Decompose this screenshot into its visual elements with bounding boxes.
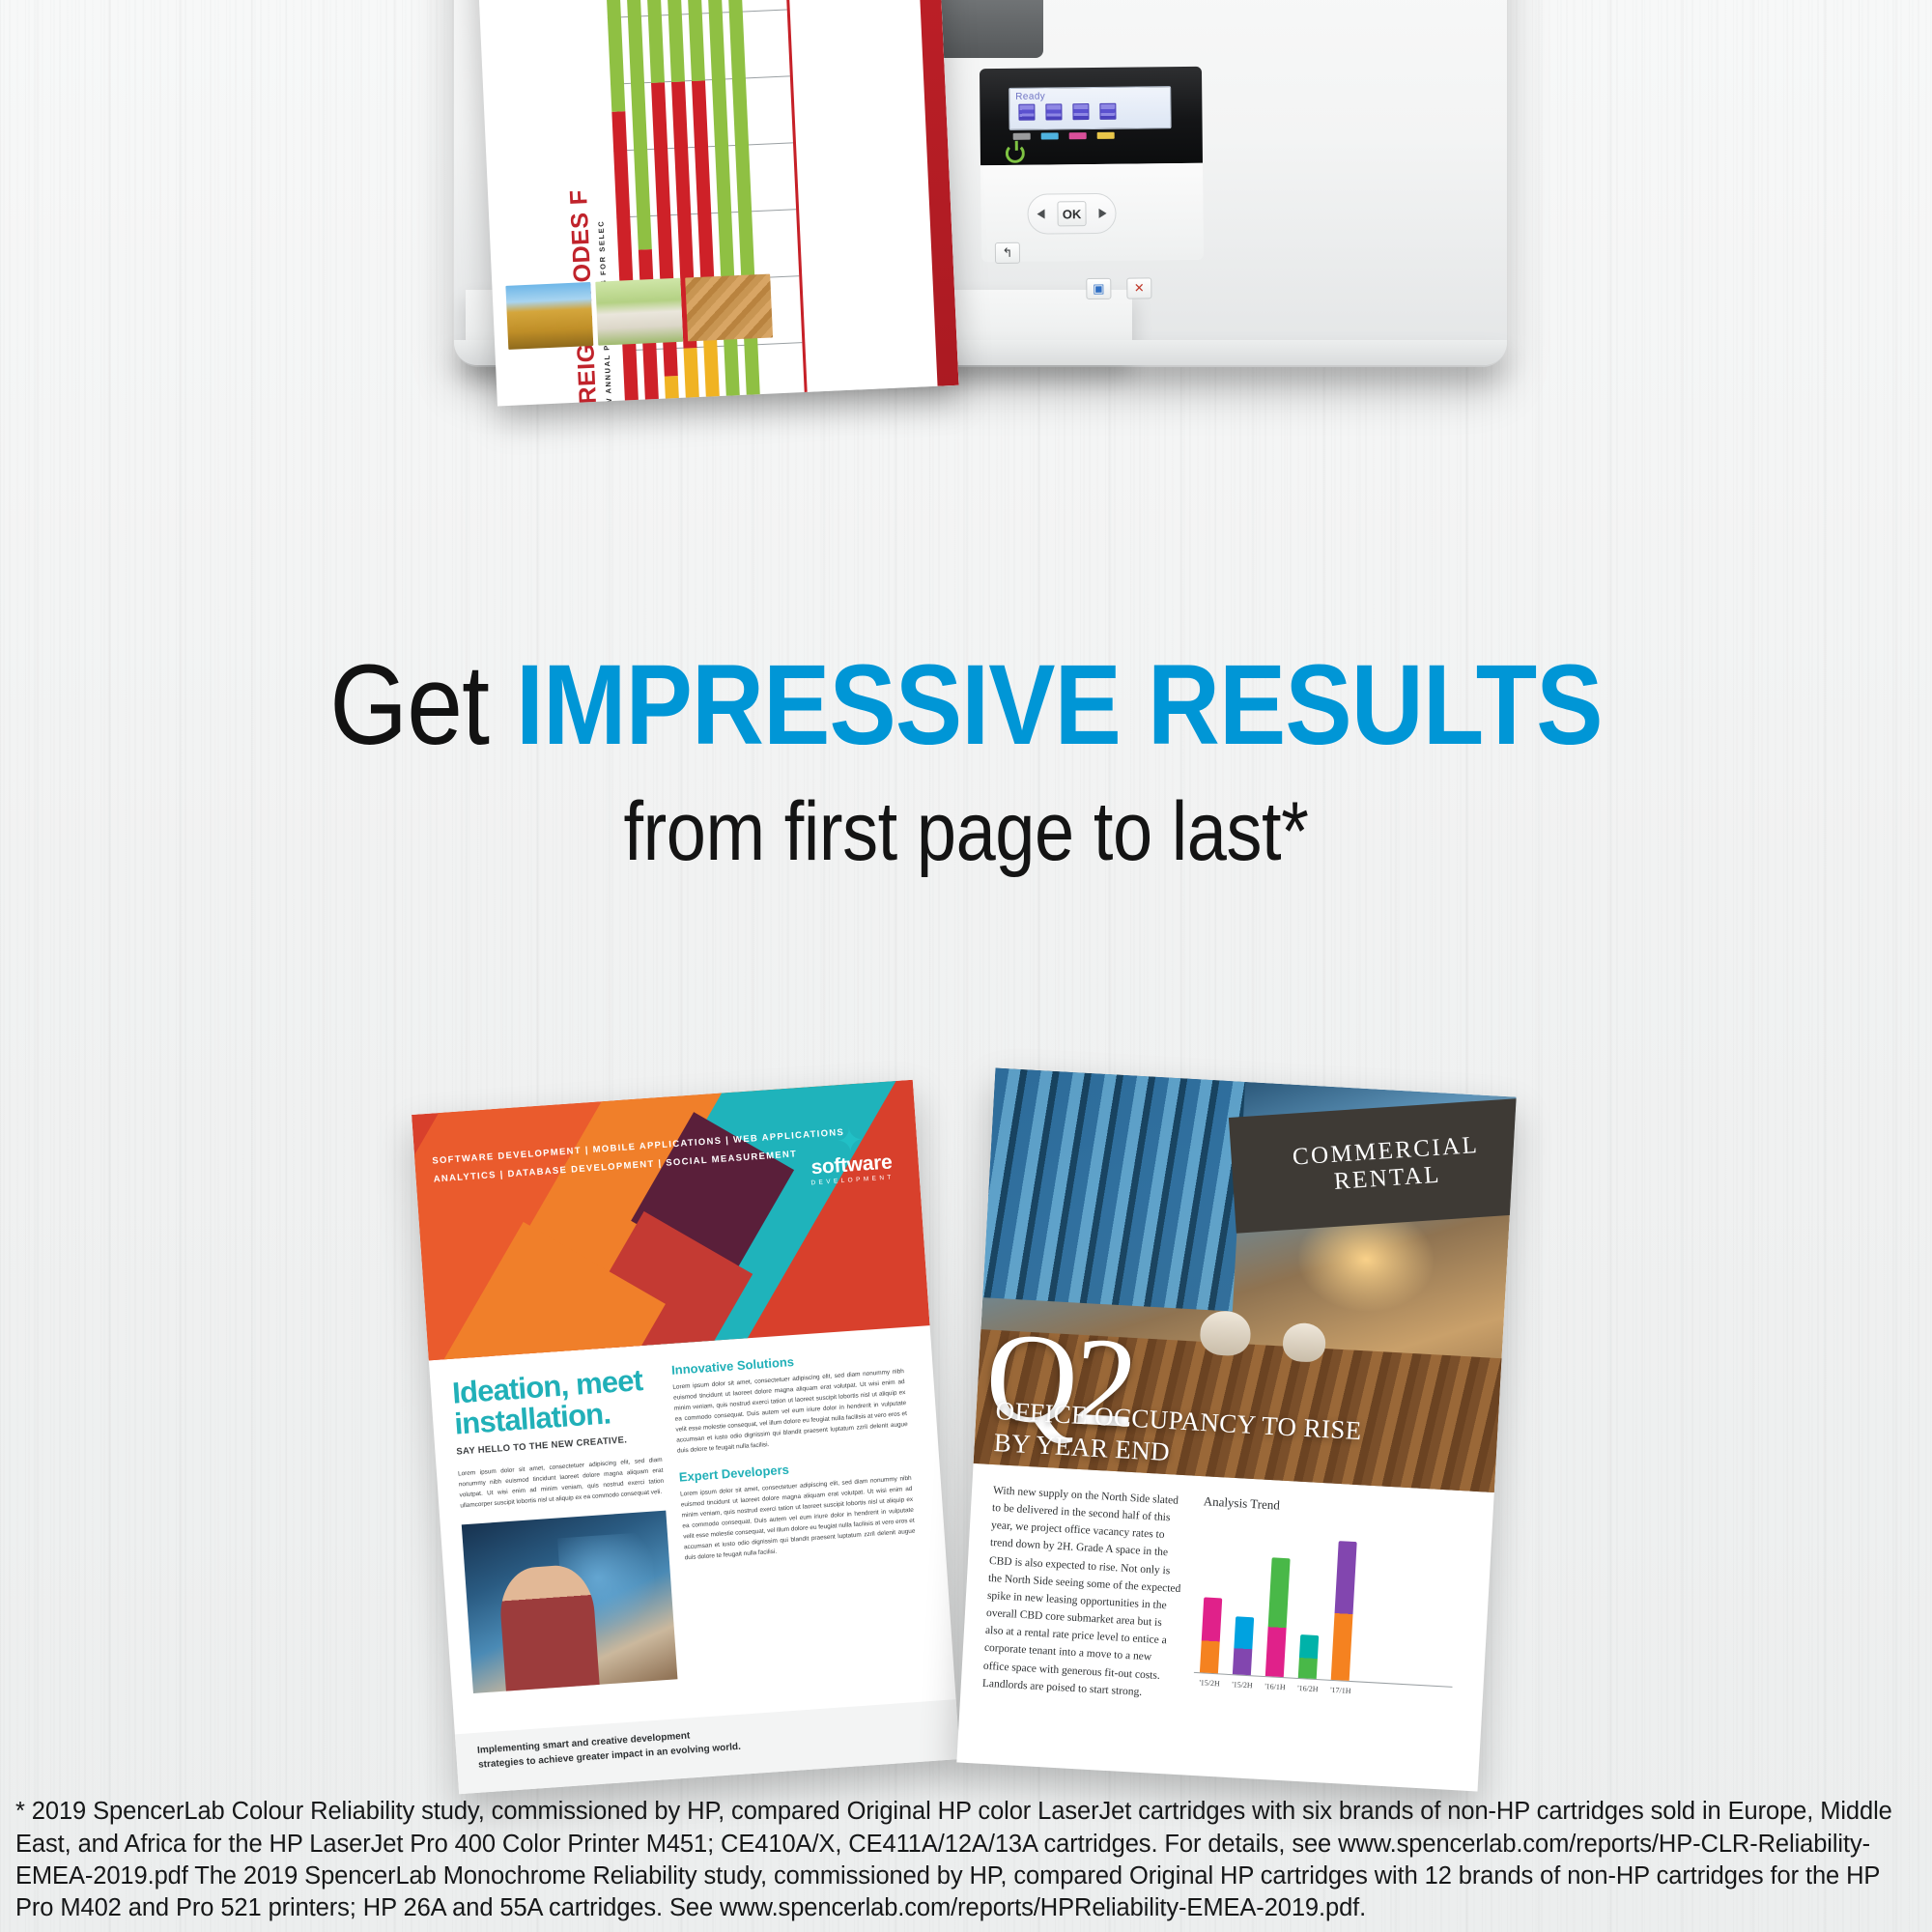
software-brochure-body: Ideation, meet installation. SAY HELLO T… [429, 1325, 953, 1695]
chart-bar [1331, 1541, 1357, 1681]
photo-person [497, 1563, 600, 1690]
wheat-field-photo [505, 282, 593, 350]
headline-lead: Get [329, 641, 516, 769]
printer-control-panel[interactable]: Ready OK ↰ ▣ [980, 67, 1204, 262]
ink-gauge-magenta-icon [1072, 103, 1089, 120]
software-brochure-header: SOFTWARE DEVELOPMENT | MOBILE APPLICATIO… [412, 1080, 930, 1361]
power-button-icon[interactable] [1006, 144, 1025, 163]
chart-bar-segment-sea [684, 348, 700, 406]
ok-button[interactable]: OK [1057, 201, 1086, 226]
chart-bar [1265, 1557, 1291, 1677]
printer-status-text: Ready [1015, 90, 1170, 102]
chart-bar [1298, 1634, 1319, 1679]
sheep-photo [595, 278, 683, 346]
chart-bar-segment-sea [665, 376, 680, 407]
arrow-left-icon[interactable] [1037, 210, 1044, 219]
commercial-rental-banner: COMMERCIAL RENTAL [1229, 1097, 1517, 1234]
control-panel-bezel: Ready [980, 67, 1203, 165]
ink-gauge-black-icon [1018, 104, 1035, 121]
chip-black [1013, 133, 1031, 140]
software-headline: Ideation, meet installation. [451, 1364, 660, 1439]
chart-page-photo-strip [505, 274, 773, 350]
chart-tick-label: '16/1H [1264, 1682, 1283, 1691]
chip-cyan [1041, 132, 1059, 139]
control-panel-keypad: OK ↰ ▣ ✕ [980, 163, 1204, 262]
chart-tick-label: '15/2H [1232, 1680, 1250, 1690]
page-subtitle: from first page to last* [135, 788, 1797, 875]
rental-left-column: With new supply on the North Side slated… [981, 1482, 1186, 1703]
chart-bar [1233, 1616, 1254, 1675]
office-interior-photo: COMMERCIAL RENTAL Q2 OFFICE OCCUPANCY TO… [974, 1067, 1517, 1492]
analysis-trend-chart [1194, 1517, 1462, 1688]
ink-level-gauges [1015, 102, 1170, 121]
chart-bar [1200, 1597, 1222, 1673]
ink-gauge-cyan-icon [1045, 103, 1062, 120]
menu-button[interactable]: ▣ [1086, 278, 1111, 299]
chart-tick-label: '15/2H [1199, 1678, 1217, 1688]
printer-lcd-display: Ready [1009, 86, 1171, 130]
printer-scene: Ready OK ↰ ▣ [0, 0, 1932, 454]
software-right-column: Innovative Solutions Lorem ipsum dolor s… [671, 1347, 924, 1678]
brochure-scene: SOFTWARE DEVELOPMENT | MOBILE APPLICATIO… [0, 1053, 1932, 1787]
ink-color-chips [1013, 132, 1115, 140]
back-button[interactable]: ↰ [995, 242, 1020, 264]
software-left-column: Ideation, meet installation. SAY HELLO T… [451, 1364, 677, 1693]
chart-tick-label: '17/1H [1330, 1686, 1349, 1695]
software-logo: ✦ software DEVELOPMENT [808, 1125, 895, 1186]
headline-emphasis: IMPRESSIVE RESULTS [516, 641, 1603, 769]
navigation-pad[interactable]: OK [1027, 193, 1116, 235]
banner-line-2: RENTAL [1333, 1162, 1442, 1196]
developer-photo [462, 1511, 678, 1693]
photo-glass-facade [982, 1067, 1245, 1311]
software-brochure-footer: Implementing smart and creative developm… [455, 1699, 960, 1794]
software-section-1-body: Lorem ipsum dolor sit amet, consectetuer… [672, 1366, 909, 1457]
software-left-paragraph: Lorem ipsum dolor sit amet, consectetuer… [458, 1455, 666, 1512]
software-brochure: SOFTWARE DEVELOPMENT | MOBILE APPLICATIO… [412, 1080, 960, 1795]
legal-footnote: * 2019 SpencerLab Colour Reliability stu… [0, 1796, 1932, 1924]
rental-brochure: COMMERCIAL RENTAL Q2 OFFICE OCCUPANCY TO… [956, 1067, 1516, 1791]
chip-magenta [1069, 132, 1087, 139]
timber-stack-photo [685, 274, 773, 342]
software-section-2-body: Lorem ipsum dolor sit amet, consectetuer… [680, 1473, 917, 1564]
chart-page-left-column: FREIGHT MODES F NSW ANNUAL PERCENTAGES F… [465, 0, 804, 406]
ink-gauge-yellow-icon [1099, 103, 1116, 120]
arrow-right-icon[interactable] [1098, 209, 1106, 218]
rental-brochure-body: With new supply on the North Side slated… [960, 1463, 1493, 1720]
rental-right-column: Analysis Trend '15/2H'15/2H'16/1H'16/2H'… [1192, 1493, 1463, 1718]
photo-chair [1282, 1322, 1326, 1363]
photo-chair [1199, 1310, 1251, 1357]
headline-block: Get IMPRESSIVE RESULTS from first page t… [0, 647, 1932, 876]
chart-bar-segment-road [595, 0, 625, 111]
rental-body-text: With new supply on the North Side slated… [981, 1482, 1186, 1703]
chip-yellow [1097, 132, 1115, 139]
printed-chart-page: FREIGHT MODES F NSW ANNUAL PERCENTAGES F… [465, 0, 958, 406]
page-title: Get IMPRESSIVE RESULTS [116, 647, 1816, 763]
chart-tick-label: '16/2H [1297, 1684, 1316, 1693]
chart-tick-label: 100% [831, 391, 838, 407]
cancel-button[interactable]: ✕ [1126, 277, 1151, 298]
